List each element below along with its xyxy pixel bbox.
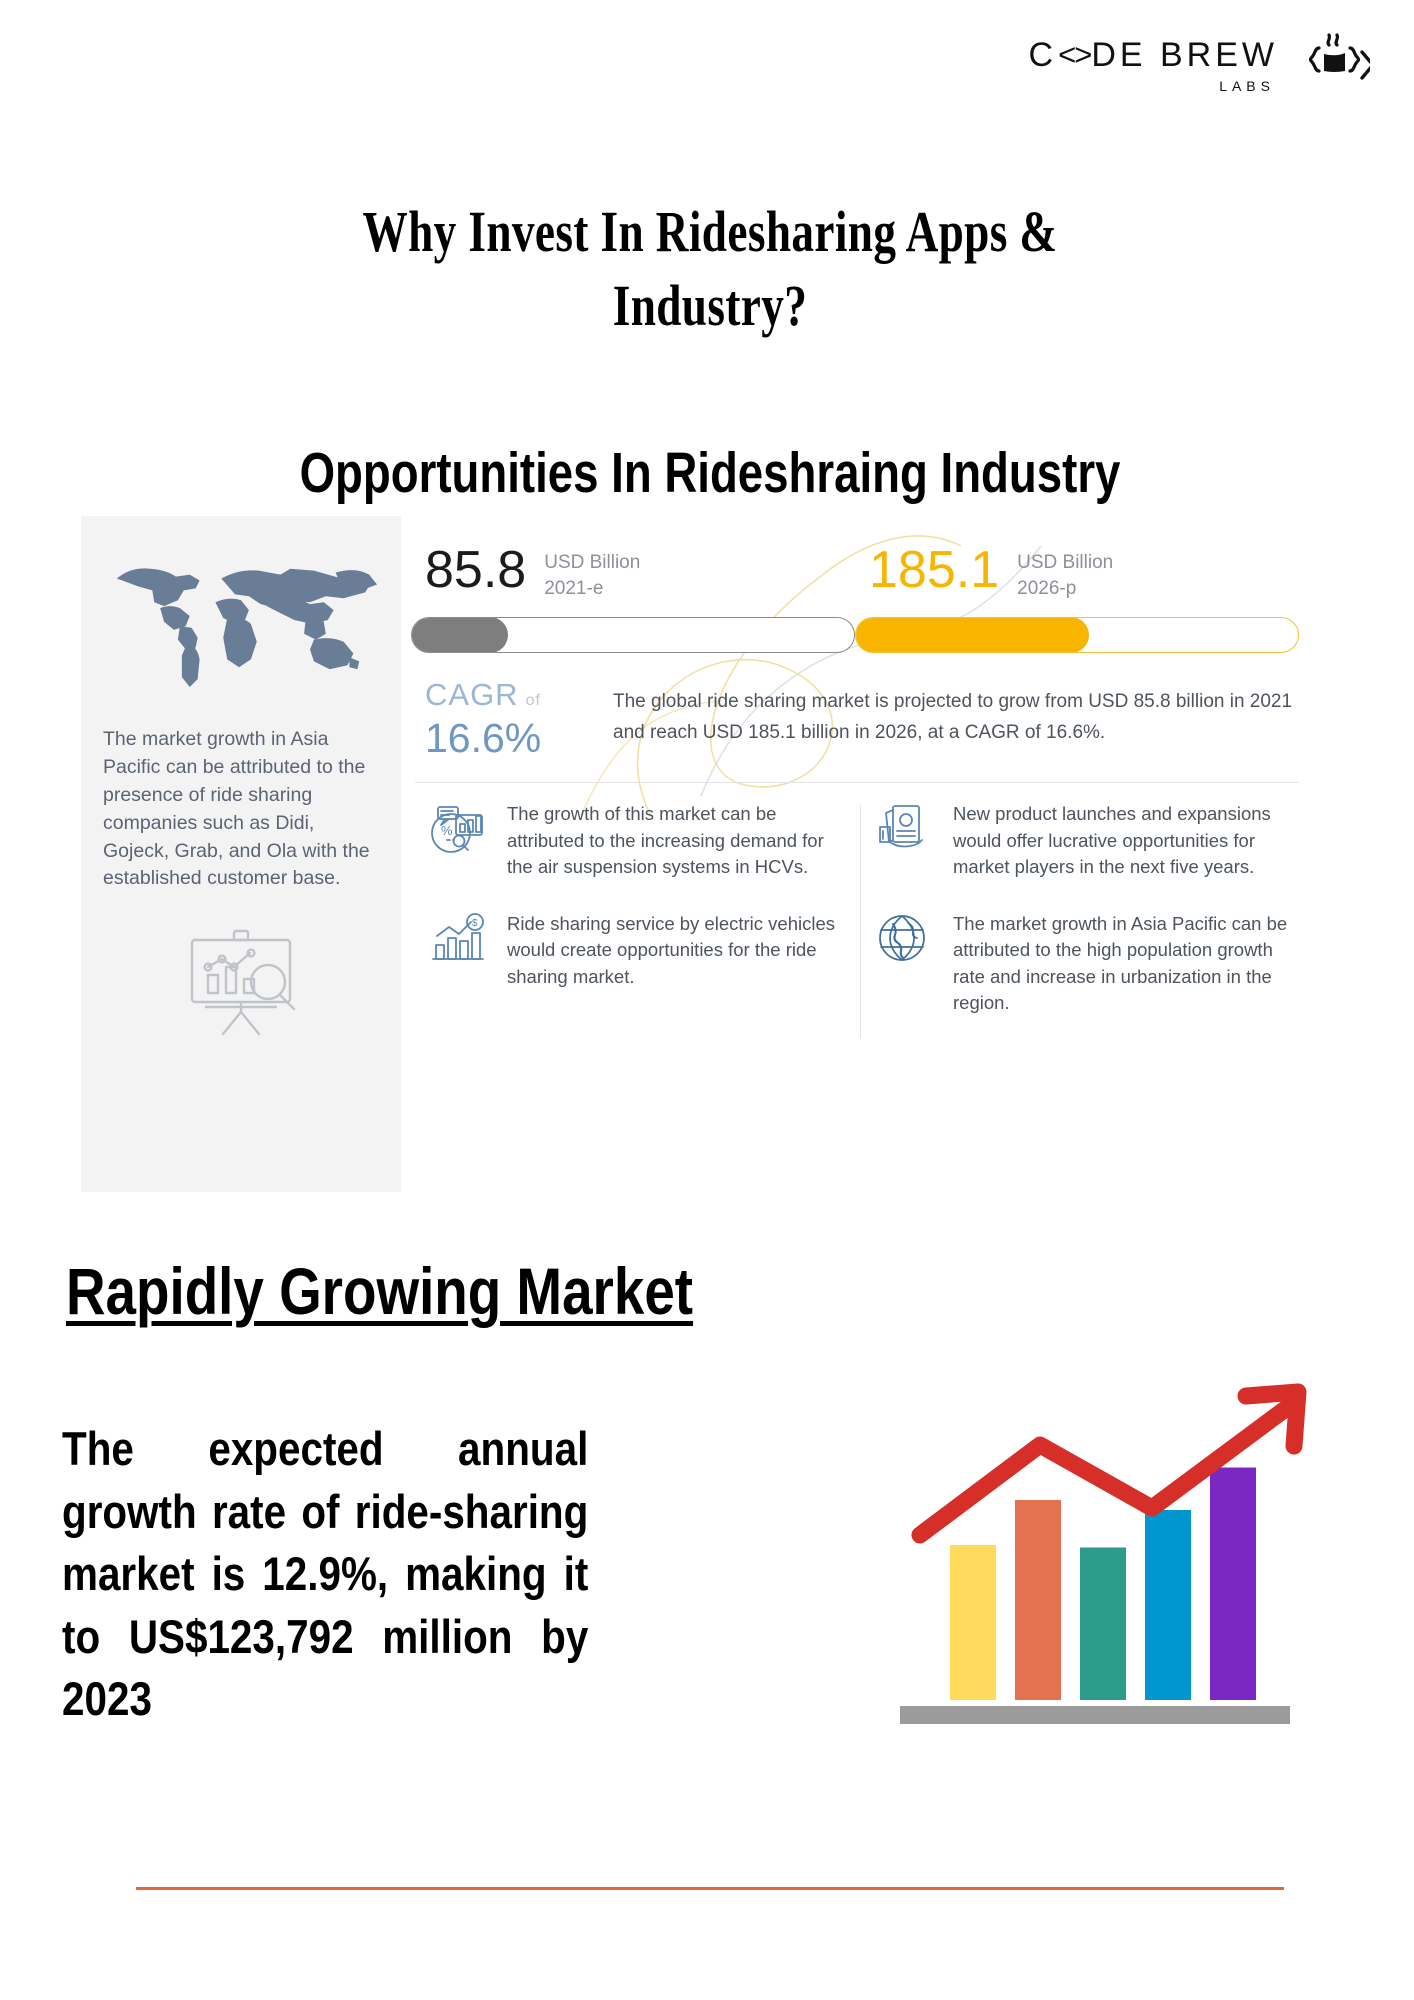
kpi-value-2026: 185.1	[869, 544, 999, 596]
money-hand-icon	[875, 801, 937, 880]
market-analysis-percent-icon: %	[429, 801, 491, 880]
kpi-bar-2026	[855, 617, 1299, 653]
info-item: New product launches and expansions woul…	[875, 801, 1293, 880]
cagr-value: 16.6%	[425, 715, 595, 762]
info-item: The market growth in Asia Pacific can be…	[875, 911, 1293, 1017]
cagr-label: CAGRof	[425, 677, 595, 713]
items-column-left: % The growth of	[415, 801, 861, 1046]
kpi-unit-line1: USD Billion	[1017, 550, 1113, 576]
infographic-panel: The market growth in Asia Pacific can be…	[81, 516, 1325, 1192]
infographic-left-panel: The market growth in Asia Pacific can be…	[81, 516, 401, 1192]
kpi-2026: 185.1 USD Billion 2026-p	[855, 544, 1299, 653]
brand-name-part1: C	[1029, 38, 1058, 72]
brand-name-part2: DE BREW	[1091, 38, 1278, 72]
cagr-of-text: of	[526, 692, 541, 709]
brand-logo: C<>DE BREW LABS	[1029, 26, 1370, 104]
info-item: $ Ride sharing service by electric vehic…	[429, 911, 847, 990]
growth-bar-chart	[890, 1360, 1340, 1760]
svg-text:%: %	[441, 823, 453, 838]
presentation-chart-magnifier-icon	[103, 927, 379, 1045]
cagr-label-text: CAGR	[425, 677, 519, 712]
rapidly-growing-market-body: The expected annual growth rate of ride-…	[62, 1418, 588, 1731]
coffee-cup-icon	[1292, 26, 1370, 104]
brand-name: C<>DE BREW	[1029, 38, 1278, 72]
cagr-row: CAGRof 16.6% The global ride sharing mar…	[401, 653, 1325, 762]
infographic-right-panel: 85.8 USD Billion 2021-e 185.1 USD Billio…	[401, 516, 1325, 1192]
cagr-block: CAGRof 16.6%	[425, 677, 595, 762]
info-item-text: Ride sharing service by electric vehicle…	[507, 911, 847, 990]
kpi-unit-2026: USD Billion 2026-p	[1017, 544, 1113, 601]
kpi-unit-line1: USD Billion	[544, 550, 640, 576]
chart-bar	[950, 1545, 996, 1700]
page-title: Why Invest In Ridesharing Apps & Industr…	[273, 195, 1147, 342]
cagr-description: The global ride sharing market is projec…	[613, 677, 1299, 748]
kpi-unit-line2: 2021-e	[544, 576, 640, 602]
info-item-text: The growth of this market can be attribu…	[507, 801, 847, 880]
info-item-text: New product launches and expansions woul…	[953, 801, 1293, 880]
info-item-text: The market growth in Asia Pacific can be…	[953, 911, 1293, 1017]
chart-baseline	[900, 1706, 1290, 1724]
svg-text:$: $	[472, 918, 478, 929]
left-panel-text: The market growth in Asia Pacific can be…	[103, 726, 379, 893]
kpi-row: 85.8 USD Billion 2021-e 185.1 USD Billio…	[401, 516, 1325, 653]
chart-bar	[1080, 1548, 1126, 1701]
growth-bar-chart-svg	[890, 1360, 1340, 1760]
bar-chart-dollar-growth-icon: $	[429, 911, 491, 990]
rapidly-growing-market-title: Rapidly Growing Market	[66, 1253, 693, 1329]
items-column-right: New product launches and expansions woul…	[861, 801, 1307, 1046]
code-brackets-icon: <>	[1058, 39, 1090, 70]
kpi-2021: 85.8 USD Billion 2021-e	[411, 544, 855, 653]
world-map-icon	[103, 542, 379, 692]
infographic-items-grid: % The growth of	[401, 783, 1325, 1046]
chart-bar	[1015, 1500, 1061, 1700]
globe-icon	[875, 911, 937, 1017]
kpi-value-2021: 85.8	[425, 544, 526, 596]
chart-bar	[1210, 1468, 1256, 1701]
info-item: % The growth of	[429, 801, 847, 880]
kpi-bar-fill-2026	[855, 617, 1089, 653]
kpi-bar-2021	[411, 617, 855, 653]
kpi-unit-2021: USD Billion 2021-e	[544, 544, 640, 601]
kpi-bar-fill-2021	[411, 617, 508, 653]
chart-bar	[1145, 1510, 1191, 1700]
section-title: Opportunities In Rideshraing Industry	[190, 440, 1230, 506]
brand-subtitle: LABS	[1219, 79, 1275, 93]
brand-wordmark: C<>DE BREW LABS	[1029, 38, 1278, 93]
kpi-unit-line2: 2026-p	[1017, 576, 1113, 602]
bottom-divider	[136, 1887, 1284, 1890]
